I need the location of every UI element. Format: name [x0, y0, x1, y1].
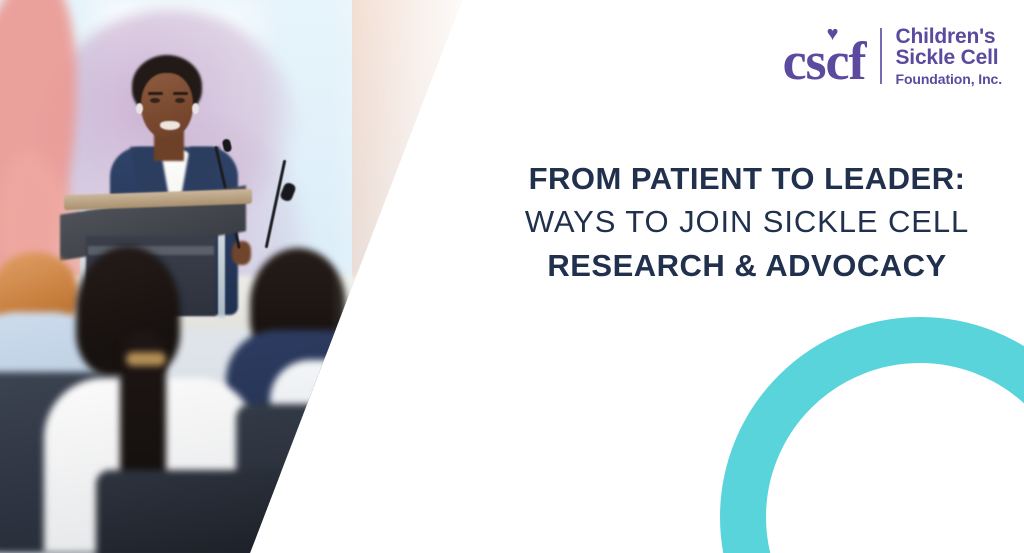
cscf-logo[interactable]: ♥ cscf Children's Sickle Cell Foundation…: [783, 24, 1002, 88]
headline-block: FROM PATIENT TO LEADER: WAYS TO JOIN SIC…: [470, 160, 1024, 287]
speaker-eye-left: [150, 98, 160, 103]
logo-text-block: Children's Sickle Cell Foundation, Inc.: [896, 26, 1003, 86]
speaker-brow-right: [173, 92, 188, 95]
speaker-hand-right: [232, 241, 251, 265]
cscf-wordmark: ♥ cscf: [783, 24, 866, 88]
speaker-earring-right: [192, 103, 199, 114]
speaker-mouth: [160, 121, 180, 130]
microphone-head-right: [279, 181, 297, 202]
heart-icon: ♥: [827, 24, 838, 44]
teal-arc-decoration: [720, 317, 1024, 553]
speaker-eye-right: [175, 98, 185, 103]
logo-line-childrens: Children's: [896, 26, 1003, 47]
webinar-banner: ♥ cscf Children's Sickle Cell Foundation…: [0, 0, 1024, 553]
headline-line-1: FROM PATIENT TO LEADER:: [470, 160, 1024, 199]
logo-line-sickle-cell: Sickle Cell: [896, 47, 1003, 68]
speaker-earring-left: [136, 103, 143, 114]
microphone-stem-right: [265, 160, 287, 249]
cscf-wordmark-text: cscf: [783, 31, 866, 91]
logo-divider: [880, 28, 882, 84]
headline-line-3: RESEARCH & ADVOCACY: [470, 245, 1024, 287]
speaker-brow-left: [148, 92, 163, 95]
logo-line-foundation: Foundation, Inc.: [896, 72, 1003, 86]
headline-line-2: WAYS TO JOIN SICKLE CELL: [470, 199, 1024, 246]
wall-strip: [352, 0, 470, 553]
audience-person-2-hair-clip: [126, 352, 166, 366]
event-photo: [0, 0, 470, 553]
teal-ring-shape: [720, 317, 1024, 553]
audience-chair-2: [96, 470, 286, 553]
